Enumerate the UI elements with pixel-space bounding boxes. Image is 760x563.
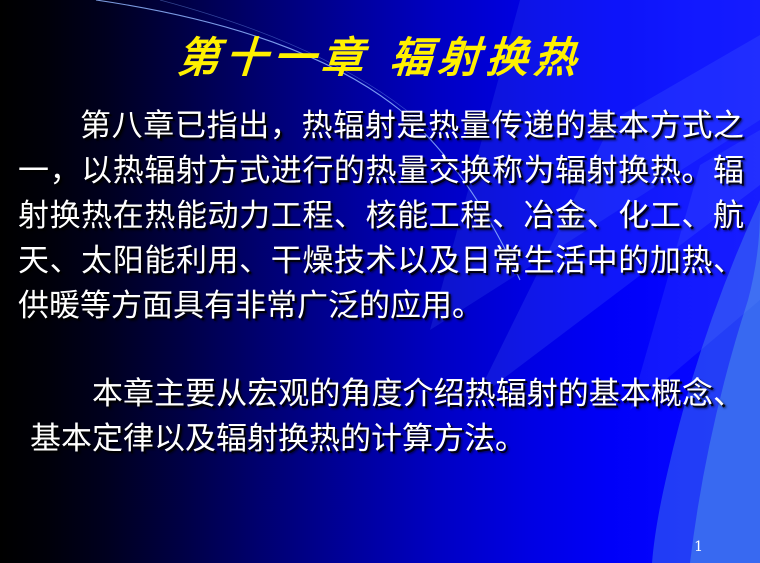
presentation-slide: 第十一章 辐射换热 第八章已指出，热辐射是热量传递的基本方式之一，以热辐射方式进… — [0, 0, 760, 563]
body-paragraph-2: 本章主要从宏观的角度介绍热辐射的基本概念、基本定律以及辐射换热的计算方法。 — [30, 372, 744, 462]
page-number: 1 — [694, 539, 703, 555]
slide-body: 第八章已指出，热辐射是热量传递的基本方式之一，以热辐射方式进行的热量交换称为辐射… — [18, 104, 744, 462]
slide-title: 第十一章 辐射换热 — [0, 24, 760, 85]
body-paragraph-1: 第八章已指出，热辐射是热量传递的基本方式之一，以热辐射方式进行的热量交换称为辐射… — [18, 104, 744, 329]
